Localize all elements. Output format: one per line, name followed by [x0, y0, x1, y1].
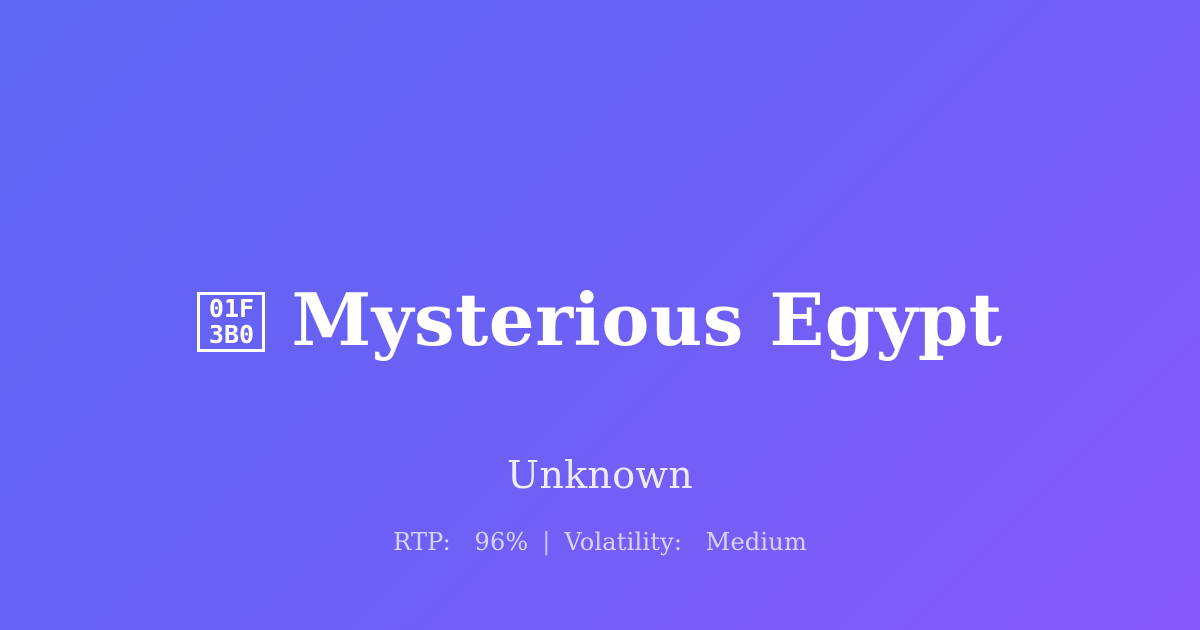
meta-separator: | — [536, 528, 556, 556]
og-share-card: 01F 3B0 Mysterious Egypt Unknown RTP: 96… — [0, 0, 1200, 630]
rtp-value: 96% — [474, 528, 528, 556]
meta-footer: RTP: 96% | Volatility: Medium — [0, 526, 1200, 558]
title-row: 01F 3B0 Mysterious Egypt — [197, 228, 1002, 412]
tofu-codepoint-top: 01F — [209, 296, 254, 322]
volatility-label: Volatility: — [564, 528, 682, 556]
slot-machine-icon: 01F 3B0 — [197, 292, 265, 352]
page-title: Mysterious Egypt — [291, 276, 1002, 364]
rtp-label: RTP: — [393, 528, 451, 556]
tofu-codepoint-bottom: 3B0 — [209, 322, 254, 348]
hero-block: 01F 3B0 Mysterious Egypt Unknown — [0, 228, 1200, 498]
volatility-value: Medium — [706, 528, 807, 556]
page-subtitle: Unknown — [507, 452, 693, 498]
